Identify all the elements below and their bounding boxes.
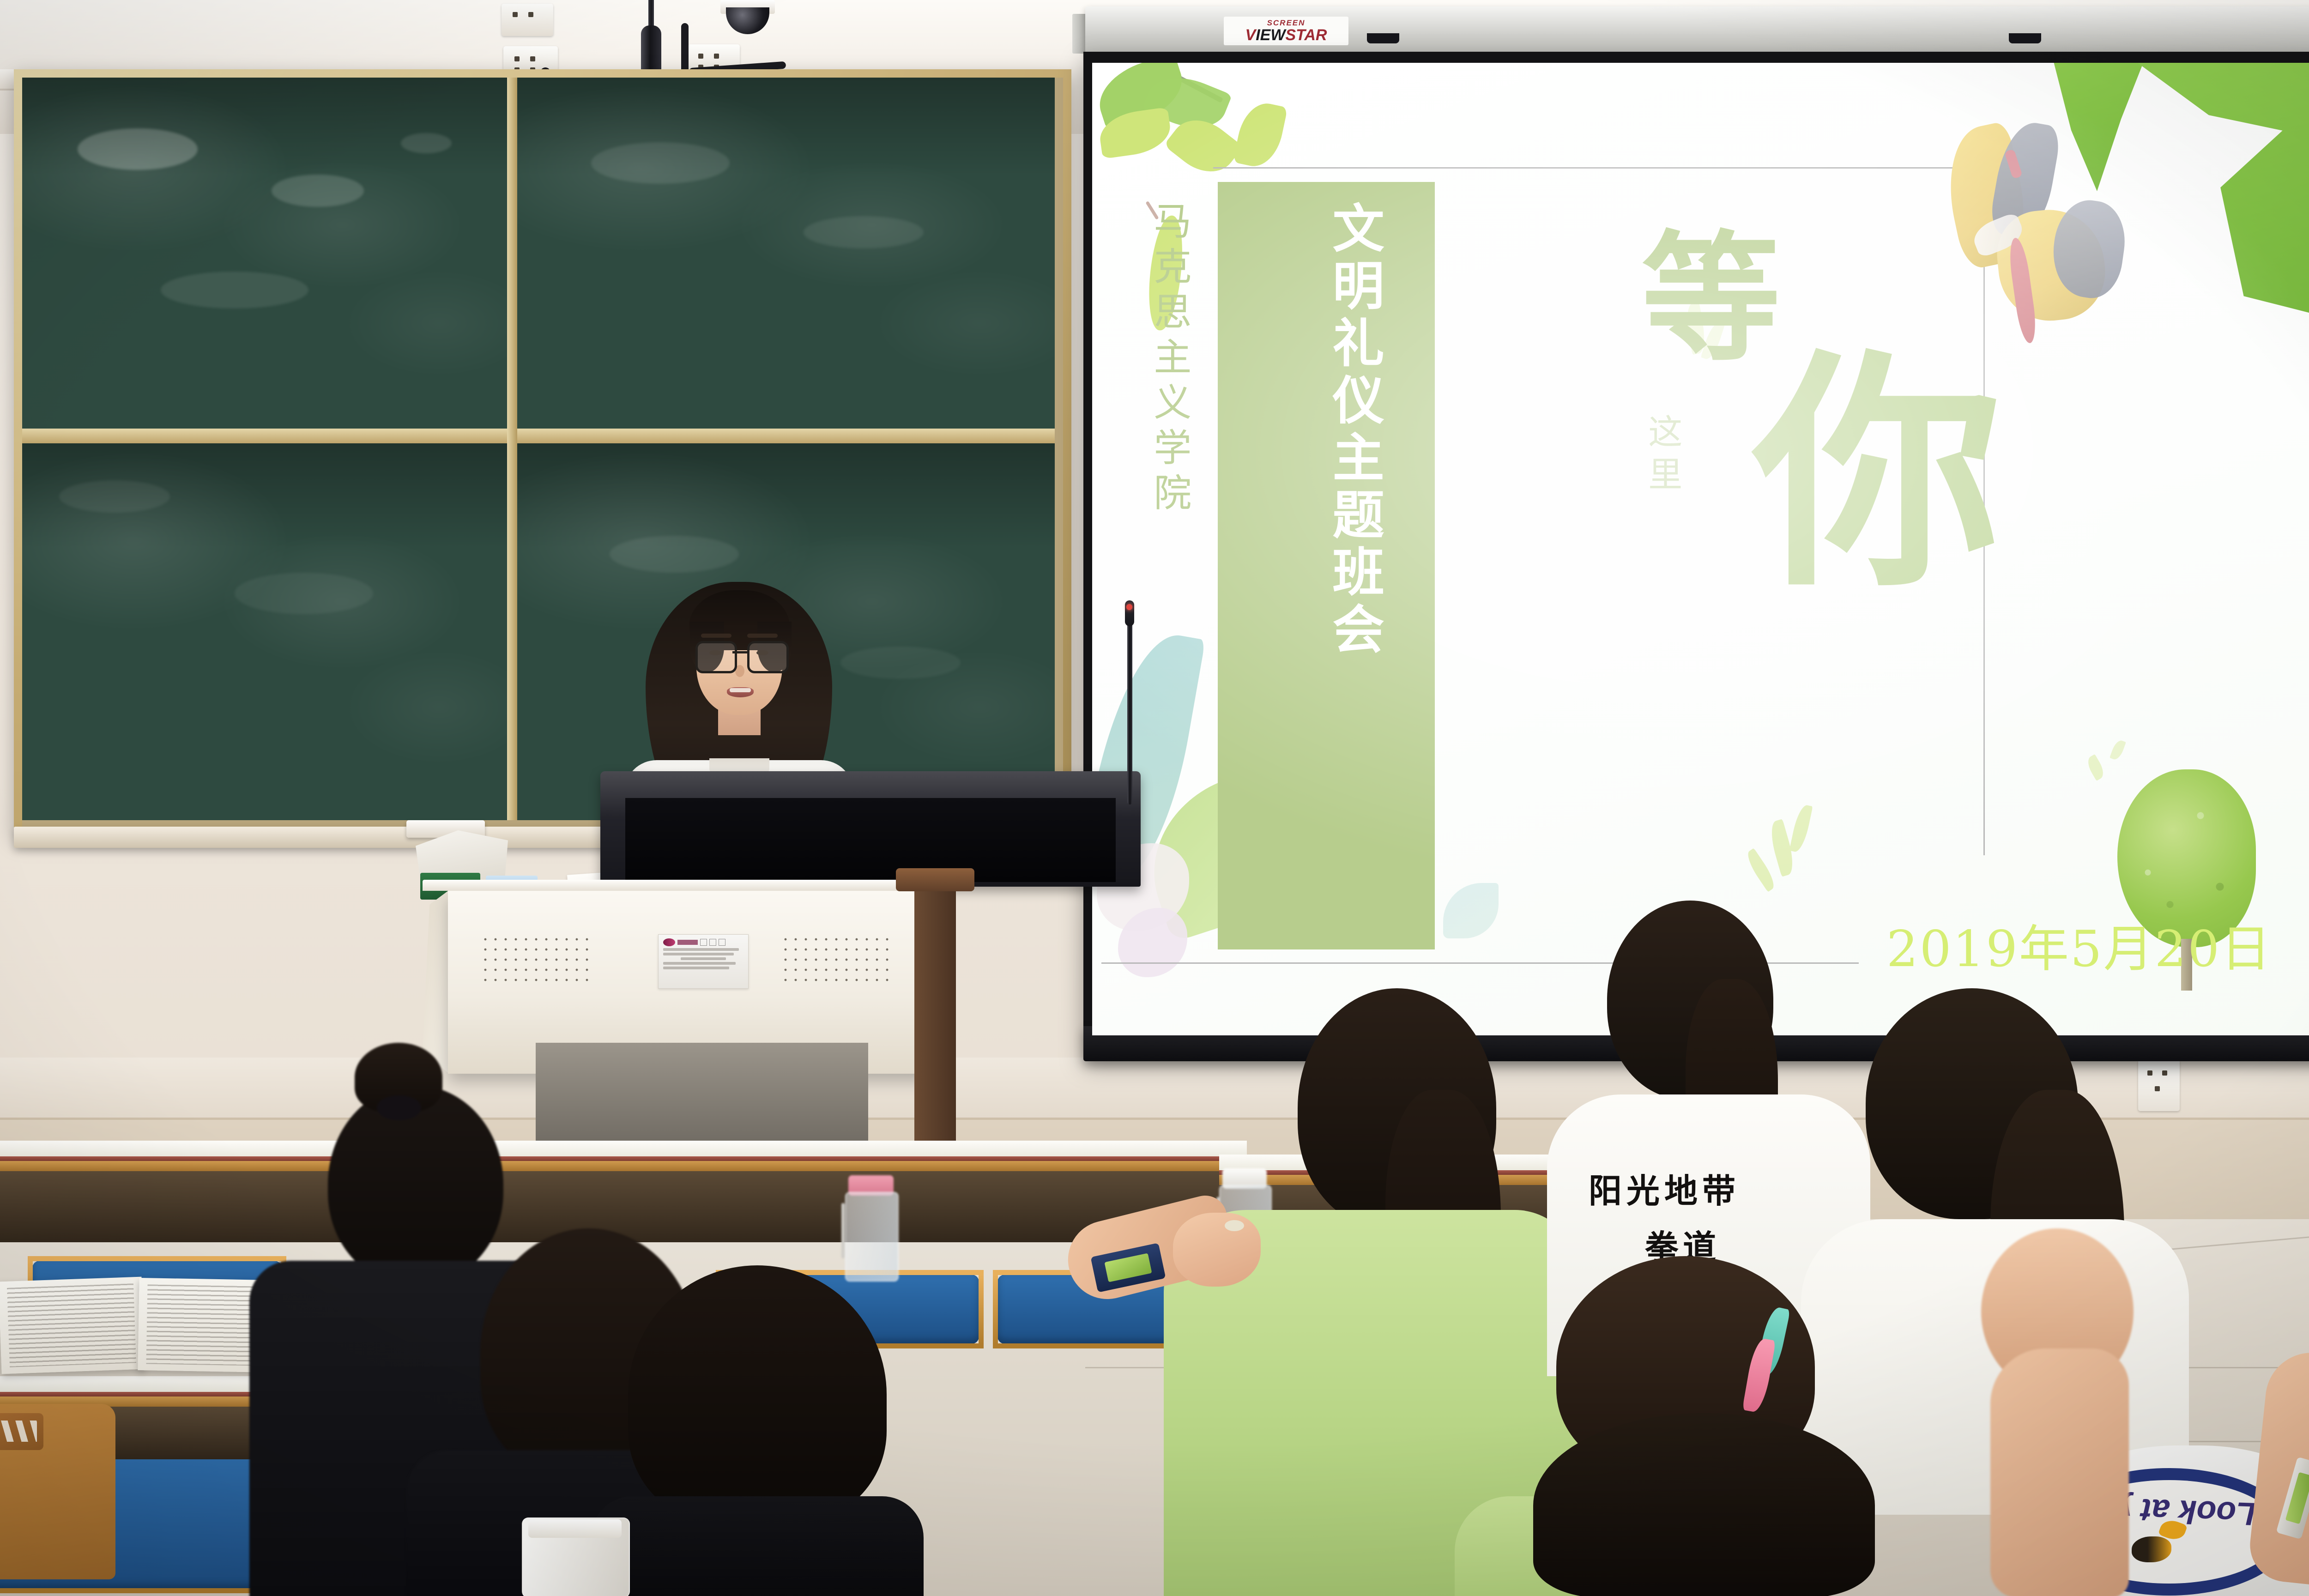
eyeglasses-icon — [695, 641, 784, 670]
slide-organization: 马克思主义学院 — [1148, 201, 1190, 518]
rule-top — [1213, 167, 1989, 169]
chair-top-rail — [896, 868, 974, 891]
classroom-photo: SCREEN VIEWSTAR — [0, 0, 2309, 1596]
chalkboard — [14, 69, 1071, 836]
podium-monitor[interactable] — [600, 771, 1141, 887]
sprig-decor — [2085, 754, 2107, 781]
screen-brand-main: VIEWSTAR — [1245, 27, 1327, 43]
chair-back — [914, 877, 956, 1155]
slide-topic: 文明礼仪主题班会 — [1327, 201, 1381, 659]
podium-microphone — [1123, 600, 1136, 804]
mic-led-indicator — [1126, 604, 1132, 610]
leaf-decor — [1443, 883, 1499, 938]
butterfly-decor — [1937, 122, 2131, 362]
list-item — [1963, 1228, 2157, 1596]
screen-brand-small: SCREEN — [1267, 19, 1306, 27]
big-leaf-decor — [2131, 63, 2309, 317]
paper-cup — [522, 1519, 628, 1596]
list-item — [1505, 1413, 1921, 1596]
podium-spec-label — [658, 934, 749, 989]
wall-outlet — [502, 4, 553, 36]
slide-hero-second: 你 — [1753, 349, 2002, 598]
sprig-decor — [1789, 804, 1813, 853]
screen-housing: SCREEN VIEWSTAR — [1085, 6, 2309, 56]
power-cable — [681, 23, 689, 74]
screen-brand-label: SCREEN VIEWSTAR — [1224, 17, 1348, 45]
vent-grille — [480, 934, 596, 989]
sprig-decor — [2110, 739, 2126, 762]
dome-security-camera-icon — [720, 0, 775, 36]
vent-grille — [780, 934, 896, 989]
slide-hero-middle: 这里 — [1642, 414, 1683, 499]
leaf-decor — [1233, 99, 1287, 171]
shirt-text-line1: 阳光地带 — [1589, 1164, 1740, 1212]
list-item — [591, 1265, 924, 1596]
tote-bag — [0, 1404, 115, 1579]
